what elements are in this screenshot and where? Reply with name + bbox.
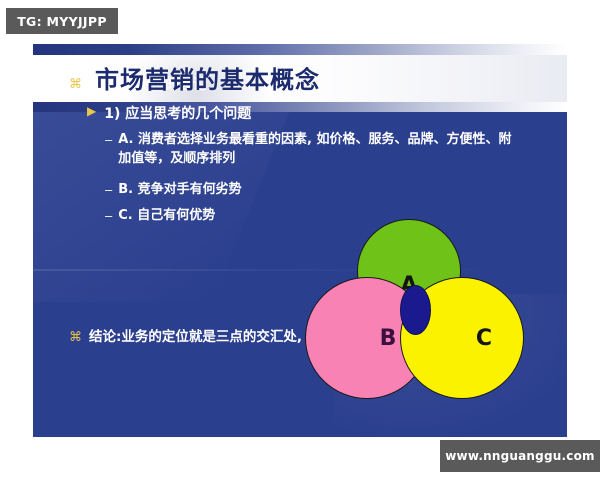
triangle-right-bullet-icon: ▶	[87, 103, 96, 117]
slide-title-band: 市场营销的基本概念	[33, 44, 567, 112]
list-item: – B. 竞争对手有何劣势	[105, 181, 242, 200]
venn-circle-c-label: C	[476, 326, 492, 351]
bullet-level2-label: 1) 应当思考的几个问题	[104, 103, 251, 123]
presentation-slide: 市场营销的基本概念 ⌘ 2. 市场定位的理论 ▶ 1) 应当思考的几个问题 – …	[33, 44, 567, 437]
list-item-label: B. 竞争对手有何劣势	[118, 181, 241, 200]
list-item: – C. 自己有何优势	[105, 207, 215, 226]
title-band-top-rule	[33, 44, 567, 55]
dash-bullet-icon: –	[105, 207, 112, 223]
place-of-interest-bullet-icon: ⌘	[69, 74, 82, 90]
venn-intersection-region	[400, 285, 431, 335]
dash-bullet-icon: –	[105, 131, 112, 147]
place-of-interest-bullet-icon: ⌘	[69, 327, 82, 343]
dash-bullet-icon: –	[105, 181, 112, 197]
watermark-bottom-right: www.nnguanggu.com	[440, 440, 600, 472]
venn-circle-b-label: B	[380, 326, 397, 351]
venn-diagram: A B C	[305, 219, 530, 419]
bullet-level2: ▶ 1) 应当思考的几个问题	[87, 103, 251, 123]
page-title: 市场营销的基本概念	[95, 60, 320, 95]
list-item-label: C. 自己有何优势	[118, 207, 215, 226]
watermark-top-left: TG: MYYJJPP	[6, 8, 118, 34]
list-item-label: A. 消费者选择业务最看重的因素, 如价格、服务、品牌、方便性、附加值等，及顺序…	[118, 131, 518, 169]
list-item: – A. 消费者选择业务最看重的因素, 如价格、服务、品牌、方便性、附加值等，及…	[105, 131, 525, 169]
